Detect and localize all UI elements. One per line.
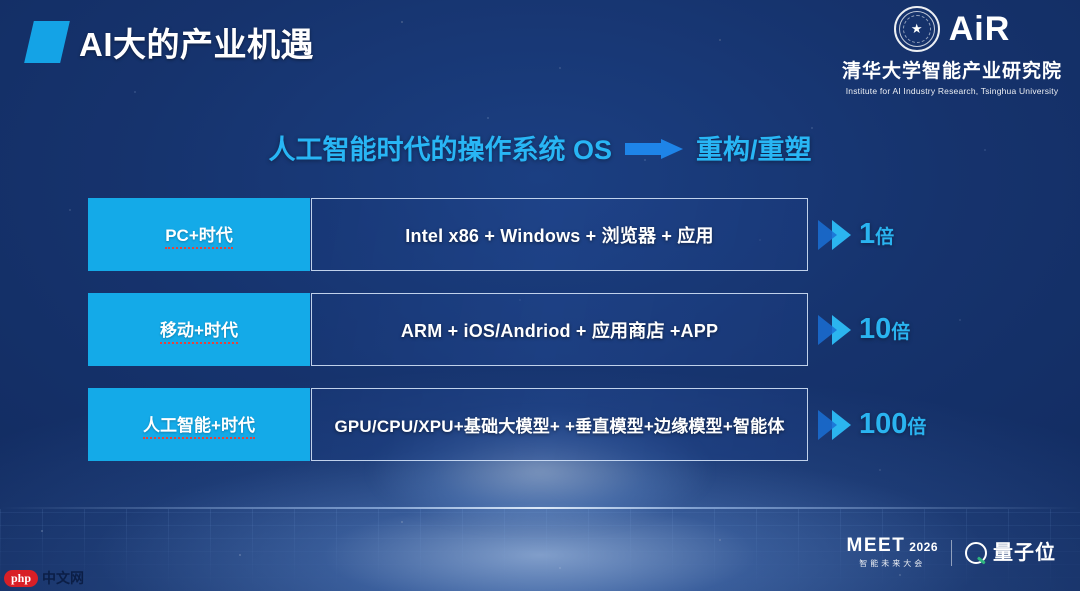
tsinghua-seal-icon: [894, 6, 940, 52]
title-accent-parallelogram-icon: [24, 21, 70, 63]
chevron-1: [818, 410, 837, 440]
air-name-cn: 清华大学智能产业研究院: [842, 56, 1062, 83]
era-stack-cell: ARM + iOS/Andriod + 应用商店 +APP: [311, 293, 808, 366]
era-label-cell: 移动+时代: [88, 293, 310, 366]
arrow-shaft: [625, 143, 661, 155]
air-logo-top: AiR: [842, 6, 1062, 52]
multiplier-unit: 倍: [875, 227, 894, 248]
era-multiplier-cell: 100倍: [808, 388, 993, 461]
multiplier-value: 10: [859, 313, 891, 345]
multiplier-text: 1倍: [859, 220, 894, 249]
era-label-cell: 人工智能+时代: [88, 388, 310, 461]
qbit-circle-icon: [965, 542, 987, 564]
era-stack-cell: GPU/CPU/XPU+基础大模型+ +垂直模型+边缘模型+智能体: [311, 388, 808, 461]
subtitle-right-text: 重构/重塑: [696, 128, 812, 167]
watermark-text: 中文网: [42, 568, 84, 588]
footer-divider: [951, 540, 952, 566]
slide-canvas: AI大的产业机遇 AiR 清华大学智能产业研究院 Institute for A…: [0, 0, 1080, 591]
air-wordmark: AiR: [949, 12, 1011, 46]
multiplier-unit: 倍: [907, 417, 926, 438]
right-arrow-icon: [625, 139, 683, 156]
air-logo: AiR 清华大学智能产业研究院 Institute for AI Industr…: [842, 6, 1062, 96]
multiplier-value: 100: [859, 408, 907, 440]
air-name-en: Institute for AI Industry Research, Tsin…: [842, 86, 1062, 96]
table-row: PC+时代 Intel x86 + Windows + 浏览器 + 应用 1倍: [88, 198, 993, 271]
table-row: 人工智能+时代 GPU/CPU/XPU+基础大模型+ +垂直模型+边缘模型+智能…: [88, 388, 993, 461]
subtitle-heading: 人工智能时代的操作系统 OS 重构/重塑: [0, 128, 1080, 167]
era-comparison-table: PC+时代 Intel x86 + Windows + 浏览器 + 应用 1倍 …: [88, 198, 993, 461]
meet-logo: MEET 2026 智能未来大会: [847, 536, 938, 569]
chevron-1: [818, 315, 837, 345]
era-multiplier-cell: 1倍: [808, 198, 993, 271]
era-stack-text: GPU/CPU/XPU+基础大模型+ +垂直模型+边缘模型+智能体: [334, 412, 784, 437]
era-label-text: PC+时代: [165, 221, 233, 249]
meet-subtitle: 智能未来大会: [847, 558, 938, 569]
double-chevron-right-icon: [818, 315, 851, 345]
era-stack-text: ARM + iOS/Andriod + 应用商店 +APP: [401, 317, 718, 343]
table-row: 移动+时代 ARM + iOS/Andriod + 应用商店 +APP 10倍: [88, 293, 993, 366]
era-label-cell: PC+时代: [88, 198, 310, 271]
meet-wordmark: MEET: [847, 536, 906, 555]
subtitle-left-text: 人工智能时代的操作系统 OS: [268, 128, 612, 167]
slide-title-row: AI大的产业机遇: [29, 18, 314, 66]
era-stack-text: Intel x86 + Windows + 浏览器 + 应用: [405, 222, 713, 248]
multiplier-text: 100倍: [859, 410, 926, 439]
page-title: AI大的产业机遇: [79, 18, 314, 66]
site-watermark: php 中文网: [4, 568, 84, 588]
qbit-logo: 量子位: [965, 542, 1056, 564]
era-stack-cell: Intel x86 + Windows + 浏览器 + 应用: [311, 198, 808, 271]
multiplier-value: 1: [859, 218, 875, 250]
era-label-text: 人工智能+时代: [143, 411, 255, 439]
era-label-text: 移动+时代: [160, 316, 238, 344]
era-multiplier-cell: 10倍: [808, 293, 993, 366]
multiplier-unit: 倍: [891, 322, 910, 343]
php-badge-icon: php: [4, 570, 38, 587]
meet-year: 2026: [909, 540, 938, 554]
chevron-1: [818, 220, 837, 250]
seal-inner-ring: [903, 15, 931, 43]
double-chevron-right-icon: [818, 410, 851, 440]
multiplier-text: 10倍: [859, 315, 910, 344]
meet-logo-line: MEET 2026: [847, 536, 938, 555]
double-chevron-right-icon: [818, 220, 851, 250]
arrow-head: [661, 139, 683, 159]
footer-branding: MEET 2026 智能未来大会 量子位: [847, 536, 1056, 569]
qbit-wordmark: 量子位: [993, 543, 1056, 563]
